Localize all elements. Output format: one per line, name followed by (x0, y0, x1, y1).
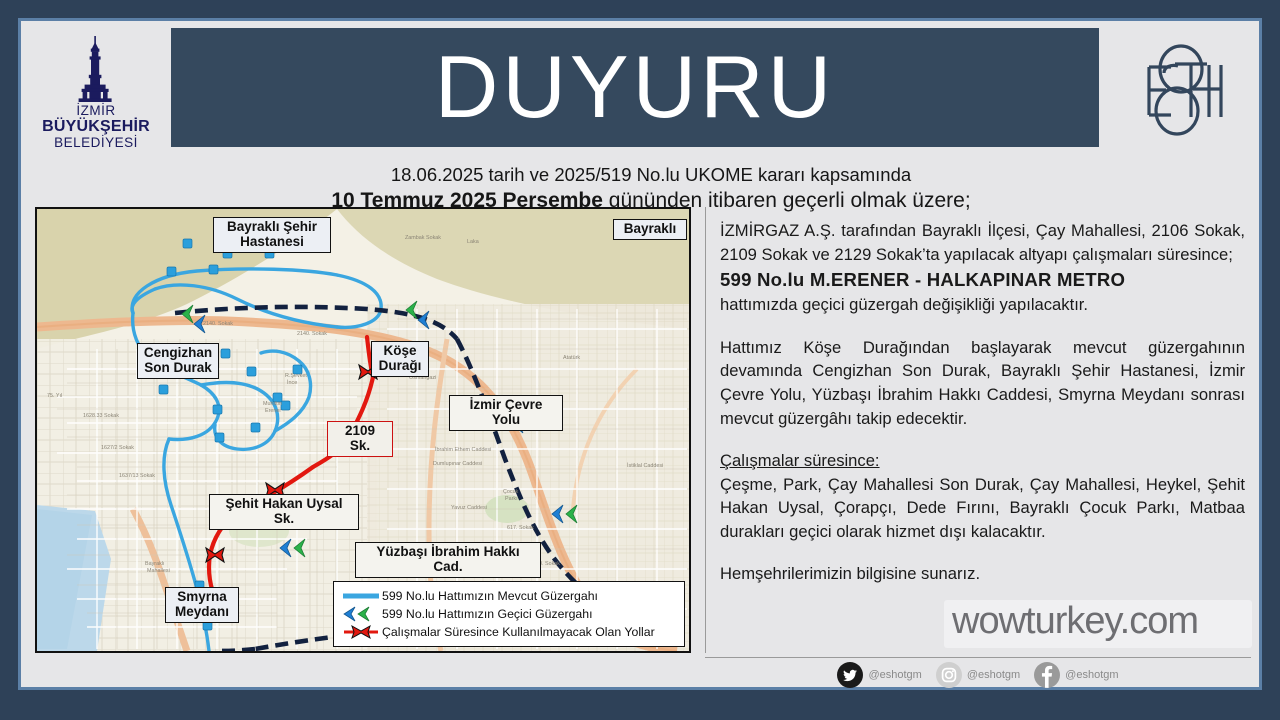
twitter-icon[interactable] (837, 662, 863, 688)
izmir-buyuksehir-belediyesi-logo: İZMİR BÜYÜKŞEHİR BELEDİYESİ (21, 21, 171, 161)
map-label-smyrna-meydani: Smyrna Meydanı (165, 587, 239, 623)
map-label-bayrakli: Bayraklı (613, 219, 687, 240)
page-title: DUYURU (435, 43, 835, 131)
legend-label-temporary-route: 599 No.lu Hattımızın Geçici Güzergahı (382, 607, 593, 621)
social-facebook[interactable]: @eshotgm (1034, 662, 1118, 688)
facebook-handle: @eshotgm (1065, 669, 1118, 681)
notice-heading-works: Çalışmalar süresince: (720, 449, 1245, 473)
spacer-1 (720, 317, 1245, 336)
route-map[interactable]: Zambak Sokak Laka R.Şevket İnce Muhittin… (35, 207, 691, 653)
clock-tower-icon (68, 36, 124, 102)
logo-text-buyuksehir: BÜYÜKŞEHİR (42, 118, 150, 135)
announcement-poster: İZMİR BÜYÜKŞEHİR BELEDİYESİ DUYURU (0, 0, 1280, 720)
svg-text:Atatürk: Atatürk (563, 355, 580, 361)
map-label-izmir-cevre-yolu: İzmir Çevre Yolu (449, 395, 563, 431)
legend-label-closed-roads: Çalışmalar Süresince Kullanılmayacak Ola… (382, 625, 655, 639)
social-instagram[interactable]: @eshotgm (936, 662, 1020, 688)
title-bar: DUYURU (171, 28, 1099, 147)
notice-paragraph-4: Çeşme, Park, Çay Mahallesi Son Durak, Ça… (720, 473, 1245, 544)
notice-paragraph-3: Hattımız Köşe Durağından başlayarak mevc… (720, 336, 1245, 430)
map-label-cengizhan-son-durak: Cengizhan Son Durak (137, 343, 219, 379)
instagram-handle: @eshotgm (967, 669, 1020, 681)
map-label-kose-duragi: Köşe Durağı (371, 341, 429, 377)
solid-blue-line-icon (340, 591, 382, 601)
svg-text:2140. Sokak: 2140. Sokak (297, 331, 327, 337)
legend-label-existing-route: 599 No.lu Hattımızın Mevcut Güzergahı (382, 589, 598, 603)
notice-paragraph-5: Hemşehrilerimizin bilgisine sunarız. (720, 562, 1245, 586)
logo-text-izmir: İZMİR (42, 104, 150, 119)
notice-line-route: 599 No.lu M.ERENER - HALKAPINAR METRO (720, 268, 1245, 292)
svg-text:Dumlupınar Caddesi: Dumlupınar Caddesi (433, 461, 482, 467)
social-footer: @eshotgm @eshotgm @eshotgm (705, 657, 1251, 691)
svg-text:2140. Sokak: 2140. Sokak (203, 321, 233, 327)
map-label-bayrakli-sehir-hastanesi: Bayraklı Şehir Hastanesi (213, 217, 331, 253)
eshot-logo (1099, 21, 1259, 161)
notice-text-panel: İZMİRGAZ A.Ş. tarafından Bayraklı İlçesi… (705, 207, 1251, 653)
svg-text:1627/2 Sokak: 1627/2 Sokak (101, 445, 134, 451)
svg-text:75. Yıl: 75. Yıl (47, 393, 62, 399)
poster-card: İZMİR BÜYÜKŞEHİR BELEDİYESİ DUYURU (18, 18, 1262, 690)
facebook-icon[interactable] (1034, 662, 1060, 688)
svg-text:Yavuz Caddesi: Yavuz Caddesi (451, 505, 487, 511)
map-label-sehit-hakan-uysal-sk: Şehit Hakan Uysal Sk. (209, 494, 359, 530)
svg-text:İbrahim Ethem Caddesi: İbrahim Ethem Caddesi (435, 446, 491, 453)
spacer-2 (720, 430, 1245, 449)
map-label-yuzbasi-ibrahim-hakki-cad: Yüzbaşı İbrahim Hakkı Cad. (355, 542, 541, 578)
watermark-text: wowturkey.com (952, 600, 1198, 643)
svg-text:İnce: İnce (287, 379, 297, 386)
legend-item-closed-roads: Çalışmalar Süresince Kullanılmayacak Ola… (340, 623, 678, 640)
svg-text:Çocuk: Çocuk (503, 489, 519, 495)
blue-green-chevrons-icon (340, 606, 382, 622)
notice-paragraph-1: İZMİRGAZ A.Ş. tarafından Bayraklı İlçesi… (720, 219, 1245, 266)
svg-text:Mahallesi: Mahallesi (147, 568, 170, 574)
svg-text:1628.33 Sokak: 1628.33 Sokak (83, 413, 119, 419)
svg-text:Bayraklı: Bayraklı (145, 561, 164, 567)
instagram-icon[interactable] (936, 662, 962, 688)
svg-text:1637/13 Sokak: 1637/13 Sokak (119, 473, 155, 479)
svg-text:Zambak Sokak: Zambak Sokak (405, 235, 441, 241)
svg-text:Muhittin: Muhittin (263, 401, 282, 407)
logo-text-belediyesi: BELEDİYESİ (42, 136, 150, 151)
svg-text:Erener: Erener (265, 408, 281, 414)
poster-header: İZMİR BÜYÜKŞEHİR BELEDİYESİ DUYURU (21, 21, 1259, 161)
legend-item-existing-route: 599 No.lu Hattımızın Mevcut Güzergahı (340, 587, 678, 604)
svg-text:617. Sokak: 617. Sokak (507, 525, 534, 531)
red-cross-icon (340, 624, 382, 640)
map-legend: 599 No.lu Hattımızın Mevcut Güzergahı 59… (333, 581, 685, 647)
ukome-decision-line: 18.06.2025 tarih ve 2025/519 No.lu UKOME… (171, 163, 1131, 186)
svg-text:İstiklal Caddesi: İstiklal Caddesi (627, 462, 663, 469)
eshot-monogram-icon (1131, 39, 1227, 143)
social-twitter[interactable]: @eshotgm (837, 662, 921, 688)
twitter-handle: @eshotgm (868, 669, 921, 681)
svg-text:Parkı: Parkı (505, 496, 518, 502)
svg-text:Laka: Laka (467, 239, 479, 245)
notice-paragraph-2: hattımızda geçici güzergah değişikliği y… (720, 293, 1245, 317)
legend-item-temporary-route: 599 No.lu Hattımızın Geçici Güzergahı (340, 605, 678, 622)
map-label-2109-sk: 2109 Sk. (327, 421, 393, 457)
spacer-3 (720, 543, 1245, 562)
svg-text:R.Şevket: R.Şevket (285, 373, 307, 379)
